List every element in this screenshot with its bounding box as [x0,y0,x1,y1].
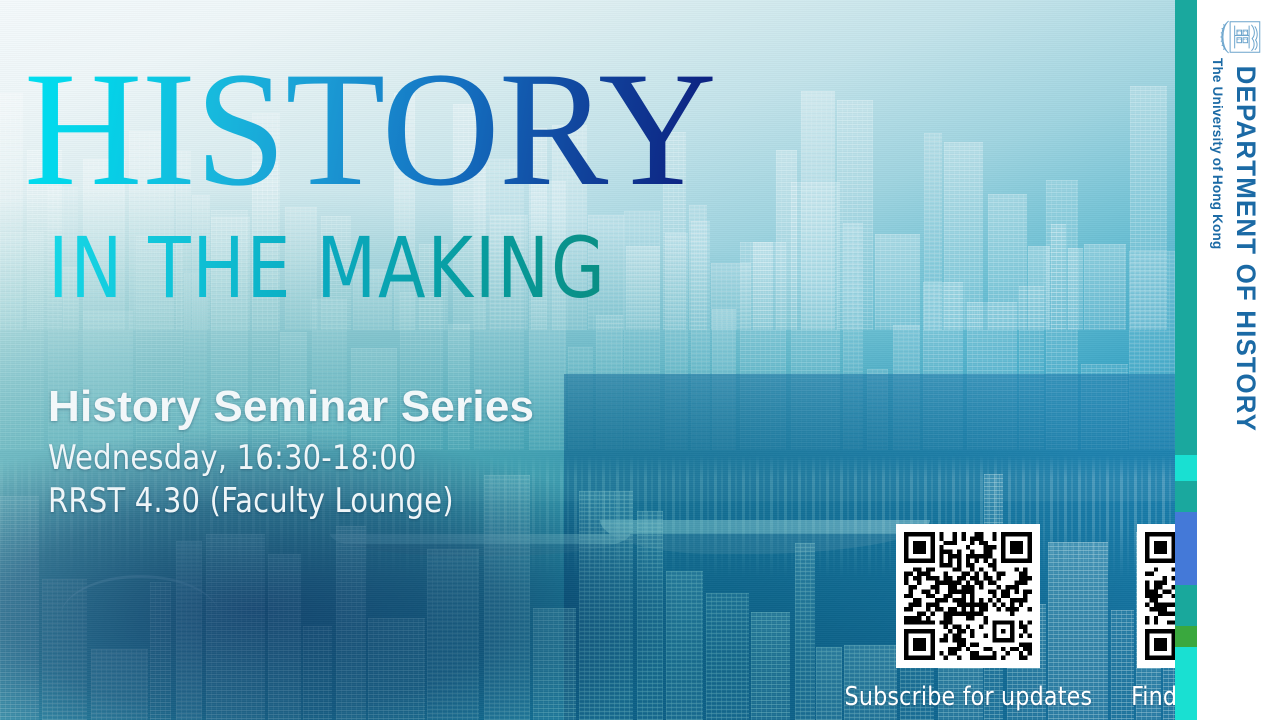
accent-strip-segment-3 [1175,512,1197,585]
sidebar-university-name: The University of Hong Kong [1210,58,1225,249]
accent-strip-segment-6 [1175,647,1197,720]
poster-root: HISTORY IN THE MAKING History Seminar Se… [0,0,1280,720]
accent-strip-segment-2 [1175,481,1197,512]
sidebar-department-name: DEPARTMENT OF HISTORY [1230,66,1261,432]
qr-label-subscribe: Subscribe for updates [845,682,1093,712]
page-subtitle: IN THE MAKING [48,226,876,310]
background-artwork: HISTORY IN THE MAKING History Seminar Se… [0,0,1175,720]
page-title: HISTORY [24,48,904,212]
qr-code-icon[interactable] [896,524,1040,668]
qr-item-find-out-more[interactable]: Find out more [1127,524,1175,712]
event-venue: RRST 4.30 (Faculty Lounge) [48,480,510,523]
accent-strip-segment-1 [1175,455,1197,481]
qr-label-find-out-more: Find out more [1131,682,1175,712]
qr-code-icon[interactable] [1137,524,1175,668]
hku-sidebar: DEPARTMENT OF HISTORY The University of … [1197,0,1280,720]
accent-strip-segment-5 [1175,626,1197,647]
event-time: Wednesday, 16:30-18:00 [48,437,510,480]
accent-strip-segment-4 [1175,585,1197,626]
accent-color-strip [1175,0,1197,720]
accent-strip-segment-0 [1175,0,1197,455]
qr-item-subscribe[interactable]: Subscribe for updates [838,524,1099,712]
qr-code-group: Subscribe for updates Find out more [838,524,1175,712]
event-name: History Seminar Series [48,382,534,431]
event-details-block: History Seminar Series Wednesday, 16:30-… [48,382,534,522]
hku-crest-icon [1217,18,1263,56]
